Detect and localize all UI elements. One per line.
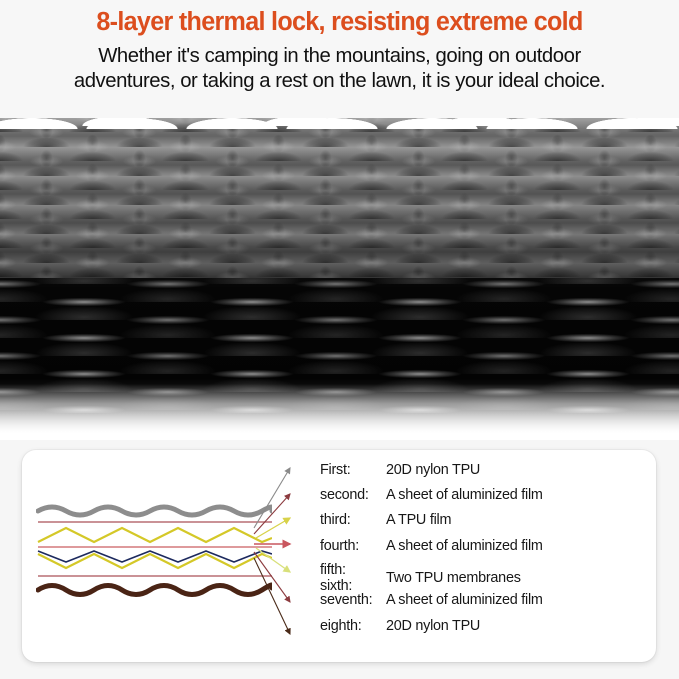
pad-seams: [0, 118, 679, 296]
pad-top-surface: [0, 118, 679, 296]
layer-ordinal-third: third:: [320, 512, 386, 528]
layer-labels: First: 20D nylon TPU second: A sheet of …: [320, 456, 660, 660]
arrow-fifth-sixth: [256, 548, 290, 572]
layer-line-eighth: [38, 585, 272, 595]
subtitle-line-2: adventures, or taking a rest on the lawn…: [9, 68, 669, 94]
arrow-first: [254, 468, 290, 528]
layer-ordinal-first: First:: [320, 462, 386, 478]
connector-arrows: [254, 456, 316, 660]
layer-line-third: [38, 528, 272, 542]
arrow-third: [256, 518, 290, 538]
layer-description-seventh: A sheet of aluminized film: [386, 592, 660, 608]
layer-row-third: third: A TPU film: [320, 512, 660, 528]
layer-row-seventh: seventh: A sheet of aluminized film: [320, 592, 660, 608]
pad-underside: [0, 278, 679, 440]
layer-ordinal-seventh: seventh:: [320, 592, 386, 608]
product-photo: [0, 118, 679, 440]
layer-description-second: A sheet of aluminized film: [386, 487, 660, 503]
subtitle-line-1: Whether it's camping in the mountains, g…: [9, 43, 669, 69]
page-subtitle: Whether it's camping in the mountains, g…: [3, 43, 675, 95]
page-title: 8-layer thermal lock, resisting extreme …: [5, 9, 674, 37]
product-photo-inner: [0, 118, 679, 440]
pad-scalloped-edge-secondary: [32, 118, 679, 126]
header: 8-layer thermal lock, resisting extreme …: [0, 0, 679, 118]
infographic-page: 8-layer thermal lock, resisting extreme …: [0, 0, 679, 679]
layer-row-first: First: 20D nylon TPU: [320, 462, 660, 478]
layer-stack-illustration: [36, 502, 272, 598]
layer-ordinal-fifth: fifth:: [320, 562, 386, 578]
layer-description-eighth: 20D nylon TPU: [386, 618, 660, 634]
arrow-eighth: [254, 558, 290, 634]
layer-description-first: 20D nylon TPU: [386, 462, 660, 478]
layer-row-fifth-sixth: fifth: sixth: Two TPU membranes: [320, 562, 660, 594]
layer-line-first: [38, 507, 272, 515]
layer-ordinal-fifth-sixth: fifth: sixth:: [320, 562, 386, 594]
layer-diagram-card: First: 20D nylon TPU second: A sheet of …: [22, 450, 656, 662]
layer-row-fourth: fourth: A sheet of aluminized film: [320, 538, 660, 554]
photo-fade: [0, 384, 679, 440]
layer-description-fourth: A sheet of aluminized film: [386, 538, 660, 554]
layer-row-eighth: eighth: 20D nylon TPU: [320, 618, 660, 634]
layer-ordinal-fourth: fourth:: [320, 538, 386, 554]
layer-ordinal-second: second:: [320, 487, 386, 503]
layer-row-second: second: A sheet of aluminized film: [320, 487, 660, 503]
layer-description-third: A TPU film: [386, 512, 660, 528]
layer-ordinal-eighth: eighth:: [320, 618, 386, 634]
layer-description-fifth-sixth: Two TPU membranes: [386, 570, 660, 586]
